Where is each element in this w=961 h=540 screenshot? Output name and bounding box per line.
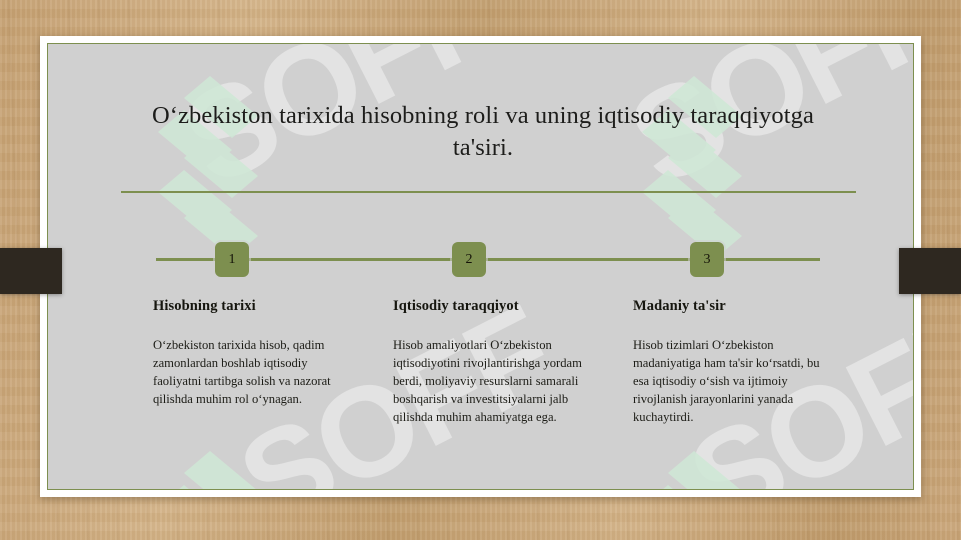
timeline-marker-label: 1: [229, 252, 236, 268]
ribbon-tab-left: [0, 248, 62, 294]
column-body-text: O‘zbekiston tarixida hisob, qadim zamonl…: [153, 337, 353, 409]
columns-container: Hisobning tarixi O‘zbekiston tarixida hi…: [153, 298, 833, 426]
timeline-marker-1[interactable]: 1: [215, 242, 249, 277]
timeline-marker-label: 3: [704, 252, 711, 268]
column-block-2: Iqtisodiy taraqqiyot Hisob amaliyotlari …: [393, 298, 593, 426]
timeline-marker-label: 2: [466, 252, 473, 268]
column-body-text: Hisob tizimlari O‘zbekiston madaniyatiga…: [633, 337, 829, 426]
column-heading: Hisobning tarixi: [153, 298, 353, 315]
title-divider-rule: [121, 191, 856, 193]
timeline-marker-2[interactable]: 2: [452, 242, 486, 277]
column-body-text: Hisob amaliyotlari O‘zbekiston iqtisodiy…: [393, 337, 593, 426]
timeline-marker-3[interactable]: 3: [690, 242, 724, 277]
column-heading: Madaniy ta'sir: [633, 298, 833, 315]
slide-root: SOFF SOFF SOFF SOFF: [0, 0, 961, 540]
column-heading: Iqtisodiy taraqqiyot: [393, 298, 593, 315]
slide-content: O‘zbekiston tarixida hisobning roli va u…: [48, 44, 913, 489]
column-block-1: Hisobning tarixi O‘zbekiston tarixida hi…: [153, 298, 353, 426]
column-block-3: Madaniy ta'sir Hisob tizimlari O‘zbekist…: [633, 298, 833, 426]
slide-title: O‘zbekiston tarixida hisobning roli va u…: [138, 100, 828, 165]
ribbon-tab-right: [899, 248, 961, 294]
slide-canvas: SOFF SOFF SOFF SOFF: [48, 44, 913, 489]
slide-frame: SOFF SOFF SOFF SOFF: [40, 36, 921, 497]
